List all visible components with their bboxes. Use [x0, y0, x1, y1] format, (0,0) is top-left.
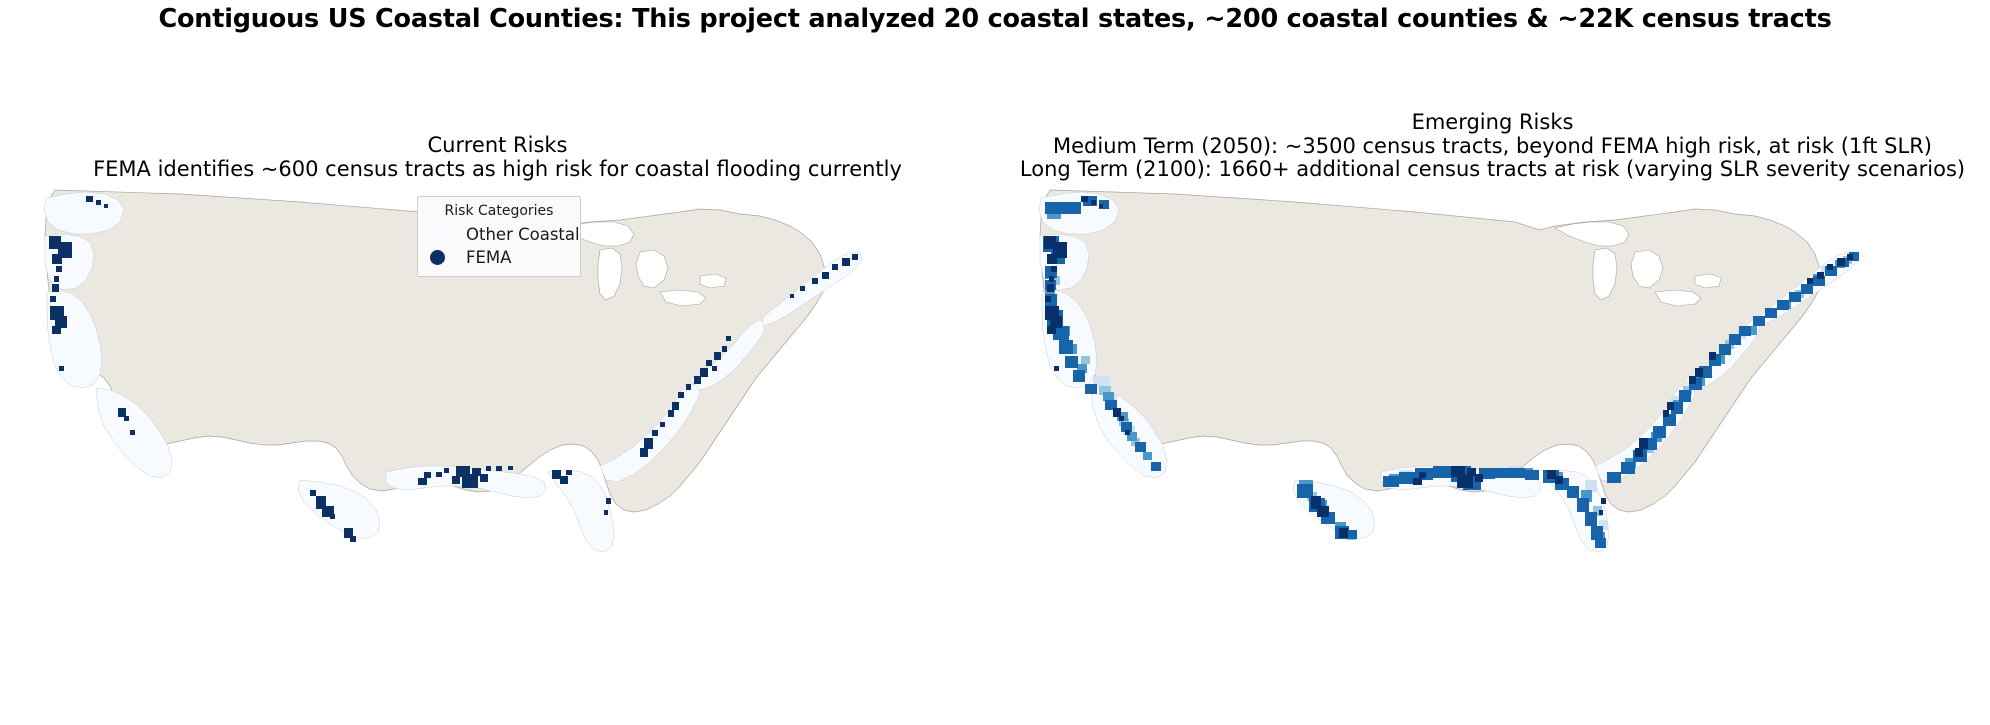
map-emerging-risks[interactable]	[995, 180, 1990, 700]
circle-marker-icon	[426, 227, 466, 242]
legend-row-other-coastal[interactable]: Other Coastal	[426, 223, 572, 246]
map-emerging-risks-svg	[995, 180, 1990, 700]
legend-left-title: Risk Categories	[426, 202, 572, 221]
panel-current-risks: Current Risks FEMA identifies ~600 censu…	[0, 0, 995, 725]
panel-emerging-risks: Emerging Risks Medium Term (2050): ~3500…	[995, 0, 1990, 725]
panel-left-title: Current Risks FEMA identifies ~600 censu…	[0, 134, 995, 181]
coastal-texas	[298, 480, 380, 538]
panel-left-title-line2: FEMA identifies ~600 census tracts as hi…	[0, 158, 995, 182]
panel-left-title-line1: Current Risks	[0, 134, 995, 158]
figure-root: Contiguous US Coastal Counties: This pro…	[0, 0, 1990, 725]
panel-right-title-line2: Medium Term (2050): ~3500 census tracts,…	[995, 135, 1990, 159]
panel-right-title: Emerging Risks Medium Term (2050): ~3500…	[995, 111, 1990, 182]
panel-right-title-line3: Long Term (2100): 1660+ additional censu…	[995, 158, 1990, 182]
circle-marker-icon	[426, 250, 466, 265]
legend-current-risks[interactable]: Risk Categories Other Coastal FEMA	[417, 196, 581, 277]
legend-label-fema: FEMA	[466, 249, 511, 267]
legend-label-other-coastal: Other Coastal	[466, 226, 580, 244]
panel-right-title-line1: Emerging Risks	[995, 111, 1990, 135]
legend-row-fema[interactable]: FEMA	[426, 246, 572, 269]
